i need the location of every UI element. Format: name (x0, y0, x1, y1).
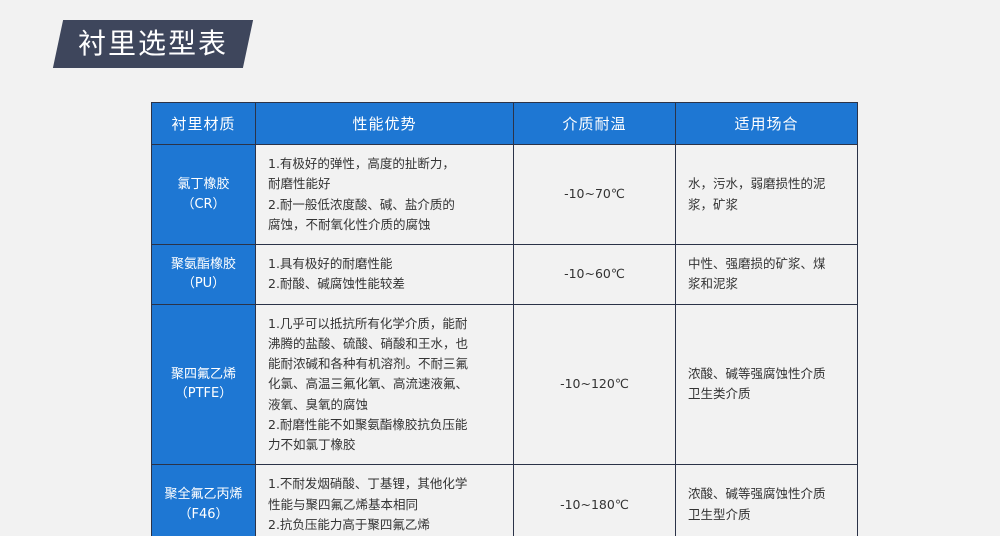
cell-advantages: 1.具有极好的耐磨性能 2.耐酸、碱腐蚀性能较差 (256, 245, 514, 305)
table-row: 氯丁橡胶 （CR） 1.有极好的弹性，高度的扯断力， 耐磨性能好 2.耐一般低浓… (152, 145, 858, 245)
table-row: 聚全氟乙丙烯 （F46） 1.不耐发烟硝酸、丁基锂，其他化学 性能与聚四氟乙烯基… (152, 465, 858, 536)
cell-temperature: -10~70℃ (514, 145, 676, 245)
cell-material: 聚全氟乙丙烯 （F46） (152, 465, 256, 536)
column-header-material: 衬里材质 (152, 103, 256, 145)
cell-application: 中性、强磨损的矿浆、煤 浆和泥浆 (676, 245, 858, 305)
cell-material: 聚氨酯橡胶 （PU） (152, 245, 256, 305)
cell-material: 氯丁橡胶 （CR） (152, 145, 256, 245)
cell-advantages: 1.不耐发烟硝酸、丁基锂，其他化学 性能与聚四氟乙烯基本相同 2.抗负压能力高于… (256, 465, 514, 536)
cell-application: 水，污水，弱磨损性的泥 浆，矿浆 (676, 145, 858, 245)
column-header-application: 适用场合 (676, 103, 858, 145)
table-row: 聚氨酯橡胶 （PU） 1.具有极好的耐磨性能 2.耐酸、碱腐蚀性能较差 -10~… (152, 245, 858, 305)
cell-advantages: 1.几乎可以抵抗所有化学介质，能耐 沸腾的盐酸、硫酸、硝酸和王水，也 能耐浓碱和… (256, 304, 514, 465)
cell-material: 聚四氟乙烯 （PTFE） (152, 304, 256, 465)
cell-temperature: -10~120℃ (514, 304, 676, 465)
lining-selection-table: 衬里材质 性能优势 介质耐温 适用场合 氯丁橡胶 （CR） 1.有极好的弹性，高… (151, 102, 858, 536)
table-header: 衬里材质 性能优势 介质耐温 适用场合 (152, 103, 858, 145)
page-root: 衬里选型表 衬里材质 性能优势 介质耐温 适用场合 氯丁橡胶 （CR） 1.有极… (0, 0, 1000, 536)
column-header-advantages: 性能优势 (256, 103, 514, 145)
cell-application: 浓酸、碱等强腐蚀性介质 卫生型介质 (676, 465, 858, 536)
table-row: 聚四氟乙烯 （PTFE） 1.几乎可以抵抗所有化学介质，能耐 沸腾的盐酸、硫酸、… (152, 304, 858, 465)
cell-temperature: -10~180℃ (514, 465, 676, 536)
page-title-banner: 衬里选型表 (53, 20, 253, 68)
table-header-row: 衬里材质 性能优势 介质耐温 适用场合 (152, 103, 858, 145)
cell-advantages: 1.有极好的弹性，高度的扯断力， 耐磨性能好 2.耐一般低浓度酸、碱、盐介质的 … (256, 145, 514, 245)
table-body: 氯丁橡胶 （CR） 1.有极好的弹性，高度的扯断力， 耐磨性能好 2.耐一般低浓… (152, 145, 858, 536)
cell-application: 浓酸、碱等强腐蚀性介质 卫生类介质 (676, 304, 858, 465)
cell-temperature: -10~60℃ (514, 245, 676, 305)
column-header-temperature: 介质耐温 (514, 103, 676, 145)
page-title: 衬里选型表 (78, 30, 228, 58)
